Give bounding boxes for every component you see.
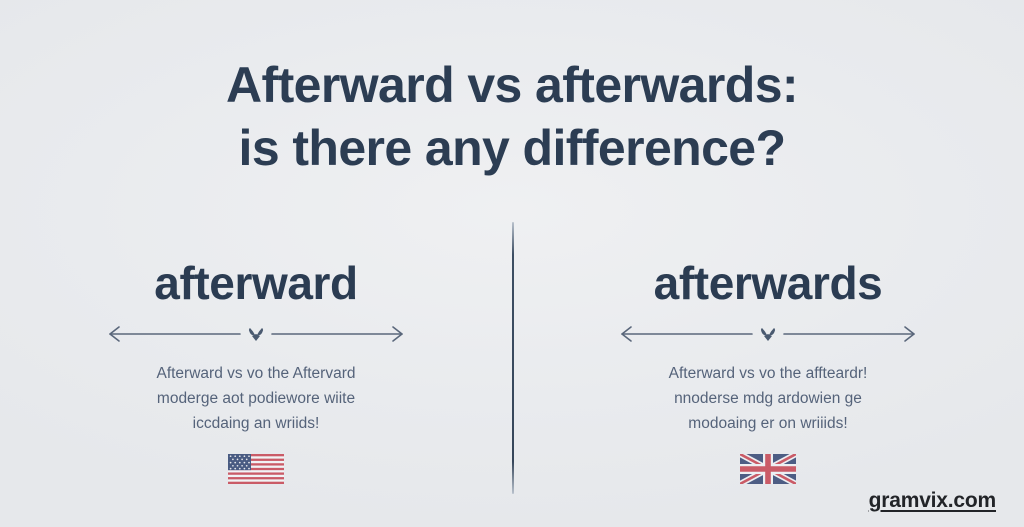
column-body-right: Afterward vs vo the affteardr! nnoderse … [618, 361, 918, 436]
column-body-left-line-3: iccdaing an wriids! [106, 411, 406, 436]
comparison-column-afterward: afterward Afterward vs vo the Aftervard … [0, 255, 512, 484]
watermark-link[interactable]: gramvix.com [869, 489, 996, 513]
column-body-right-line-1: Afterward vs vo the affteardr! [618, 361, 918, 386]
poster-canvas: Afterward vs afterwards: is there any di… [0, 0, 1024, 527]
column-body-left-line-1: Afterward vs vo the Aftervard [106, 361, 406, 386]
comparison-column-afterwards: afterwards Afterward vs vo the affteardr… [512, 255, 1024, 484]
page-title-line-2: is there any difference? [0, 117, 1024, 180]
double-headed-arrow-icon-right [612, 323, 924, 345]
column-body-left-line-2: moderge aot podiewore wiite [106, 386, 406, 411]
column-body-left: Afterward vs vo the Aftervard moderge ao… [106, 361, 406, 436]
column-body-right-line-2: nnoderse mdg ardowien ge [618, 386, 918, 411]
double-headed-arrow-icon-left [100, 323, 412, 345]
page-title-line-1: Afterward vs afterwards: [0, 54, 1024, 117]
column-word-left: afterward [154, 255, 357, 311]
uk-flag-icon [740, 454, 796, 484]
us-flag-icon [228, 454, 284, 484]
page-title: Afterward vs afterwards: is there any di… [0, 54, 1024, 180]
column-body-right-line-3: modoaing er on wriiids! [618, 411, 918, 436]
column-word-right: afterwards [654, 255, 883, 311]
comparison-columns: afterward Afterward vs vo the Aftervard … [0, 255, 1024, 484]
